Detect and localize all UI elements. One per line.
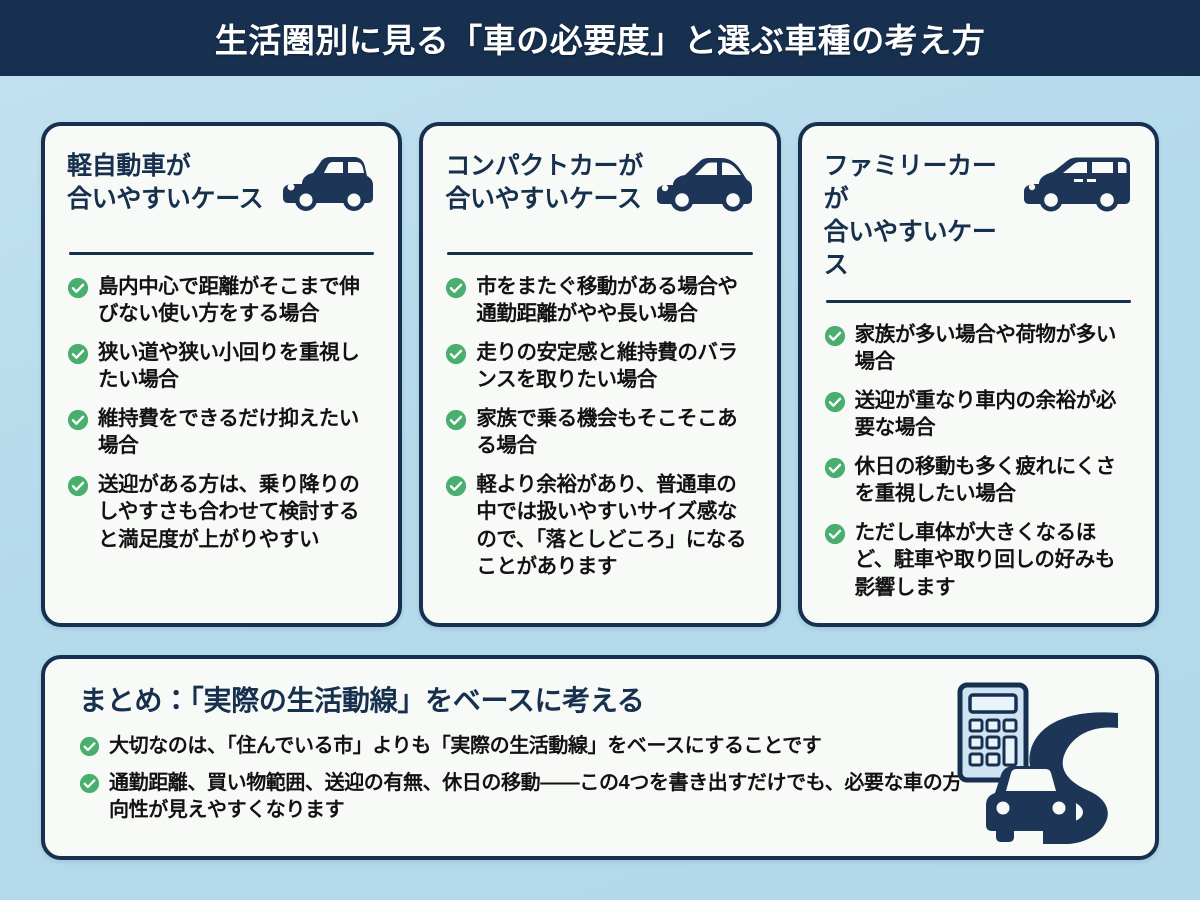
bullet-text: 送迎がある方は、乗り降りのしやすさも合わせて検討すると満足度が上がりやすい (98, 471, 376, 553)
bullet-text: 大切なのは、「住んでいる市」よりも「実際の生活動線」をベースにすることです (109, 733, 821, 761)
bullet-text: 市をまたぐ移動がある場合や通勤距離がやや長い場合 (476, 273, 754, 328)
card-divider (69, 252, 374, 255)
bullet-text: 家族が多い場合や荷物が多い場合 (855, 321, 1133, 376)
bullet-text: 走りの安定感と維持費のバランスを取りたい場合 (476, 339, 754, 394)
check-circle-icon (445, 475, 467, 497)
check-circle-icon (824, 391, 846, 413)
check-circle-icon (67, 343, 89, 365)
minivan-icon (1023, 154, 1133, 221)
kei-car-icon (280, 154, 376, 221)
summary-icon-group (943, 673, 1133, 848)
list-item: 休日の移動も多く疲れにくさを重視したい場合 (824, 453, 1133, 508)
card-bullets: 島内中心で距離がそこまで伸びない使い方をする場合 狭い道や狭い小回りを重視したい… (67, 273, 376, 553)
list-item: 送迎がある方は、乗り降りのしやすさも合わせて検討すると満足度が上がりやすい (67, 471, 376, 553)
page-title: 生活圏別に見る「車の必要度」と選ぶ車種の考え方 (215, 14, 986, 62)
bullet-text: 狭い道や狭い小回りを重視したい場合 (98, 339, 376, 394)
list-item: 通勤距離、買い物範囲、送迎の有無、休日の移動——この4つを書き出すだけでも、必要… (79, 770, 979, 825)
bullet-text: 休日の移動も多く疲れにくさを重視したい場合 (855, 453, 1133, 508)
card-bullets: 家族が多い場合や荷物が多い場合 送迎が重なり車内の余裕が必要な場合 休日の移動も… (824, 321, 1133, 601)
list-item: 家族が多い場合や荷物が多い場合 (824, 321, 1133, 376)
list-item: 走りの安定感と維持費のバランスを取りたい場合 (445, 339, 754, 394)
card-title: コンパクトカーが 合いやすいケース (445, 150, 643, 216)
check-circle-icon (67, 409, 89, 431)
card-title: ファミリーカーが 合いやすいケース (824, 150, 1017, 282)
check-circle-icon (445, 409, 467, 431)
header-bar: 生活圏別に見る「車の必要度」と選ぶ車種の考え方 (0, 0, 1200, 76)
card-divider (447, 252, 752, 255)
list-item: 維持費をできるだけ抑えたい場合 (67, 405, 376, 460)
check-circle-icon (445, 277, 467, 299)
card-divider (826, 300, 1131, 303)
bullet-text: 軽より余裕があり、普通車の中では扱いやすいサイズ感なので、「落としどころ」になる… (476, 471, 754, 581)
bullet-text: 島内中心で距離がそこまで伸びない使い方をする場合 (98, 273, 376, 328)
list-item: 狭い道や狭い小回りを重視したい場合 (67, 339, 376, 394)
calculator-icon (960, 685, 1026, 780)
list-item: ただし車体が大きくなるほど、駐車や取り回しの好みも影響します (824, 519, 1133, 601)
list-item: 大切なのは、「住んでいる市」よりも「実際の生活動線」をベースにすることです (79, 733, 979, 761)
check-circle-icon (79, 773, 100, 794)
card-family-car: ファミリーカーが 合いやすいケース (798, 122, 1159, 627)
bullet-text: 家族で乗る機会もそこそこある場合 (476, 405, 754, 460)
check-circle-icon (67, 277, 89, 299)
cards-row: 軽自動車が 合いやすいケース (41, 122, 1159, 627)
bullet-text: 通勤距離、買い物範囲、送迎の有無、休日の移動——この4つを書き出すだけでも、必要… (109, 770, 979, 825)
infographic-page: 生活圏別に見る「車の必要度」と選ぶ車種の考え方 軽自動車が 合いやすいケース (0, 0, 1200, 900)
summary-bullets: 大切なのは、「住んでいる市」よりも「実際の生活動線」をベースにすることです 通勤… (79, 733, 979, 825)
card-kei-car: 軽自動車が 合いやすいケース (41, 122, 402, 627)
check-circle-icon (824, 457, 846, 479)
check-circle-icon (445, 343, 467, 365)
summary-panel: まとめ：「実際の生活動線」をベースに考える 大切なのは、「住んでいる市」よりも「… (41, 655, 1159, 860)
compact-car-icon (655, 154, 755, 221)
bullet-text: 維持費をできるだけ抑えたい場合 (98, 405, 376, 460)
card-header: ファミリーカーが 合いやすいケース (824, 150, 1133, 282)
bullet-text: 送迎が重なり車内の余裕が必要な場合 (855, 387, 1133, 442)
check-circle-icon (824, 523, 846, 545)
list-item: 軽より余裕があり、普通車の中では扱いやすいサイズ感なので、「落としどころ」になる… (445, 471, 754, 581)
list-item: 市をまたぐ移動がある場合や通勤距離がやや長い場合 (445, 273, 754, 328)
card-header: コンパクトカーが 合いやすいケース (445, 150, 754, 234)
bullet-text: ただし車体が大きくなるほど、駐車や取り回しの好みも影響します (855, 519, 1133, 601)
check-circle-icon (824, 325, 846, 347)
list-item: 家族で乗る機会もそこそこある場合 (445, 405, 754, 460)
card-header: 軽自動車が 合いやすいケース (67, 150, 376, 234)
check-circle-icon (67, 475, 89, 497)
check-circle-icon (79, 736, 100, 757)
list-item: 島内中心で距離がそこまで伸びない使い方をする場合 (67, 273, 376, 328)
card-compact-car: コンパクトカーが 合いやすいケース (419, 122, 780, 627)
card-title: 軽自動車が 合いやすいケース (67, 150, 263, 216)
card-bullets: 市をまたぐ移動がある場合や通勤距離がやや長い場合 走りの安定感と維持費のバランス… (445, 273, 754, 581)
list-item: 送迎が重なり車内の余裕が必要な場合 (824, 387, 1133, 442)
